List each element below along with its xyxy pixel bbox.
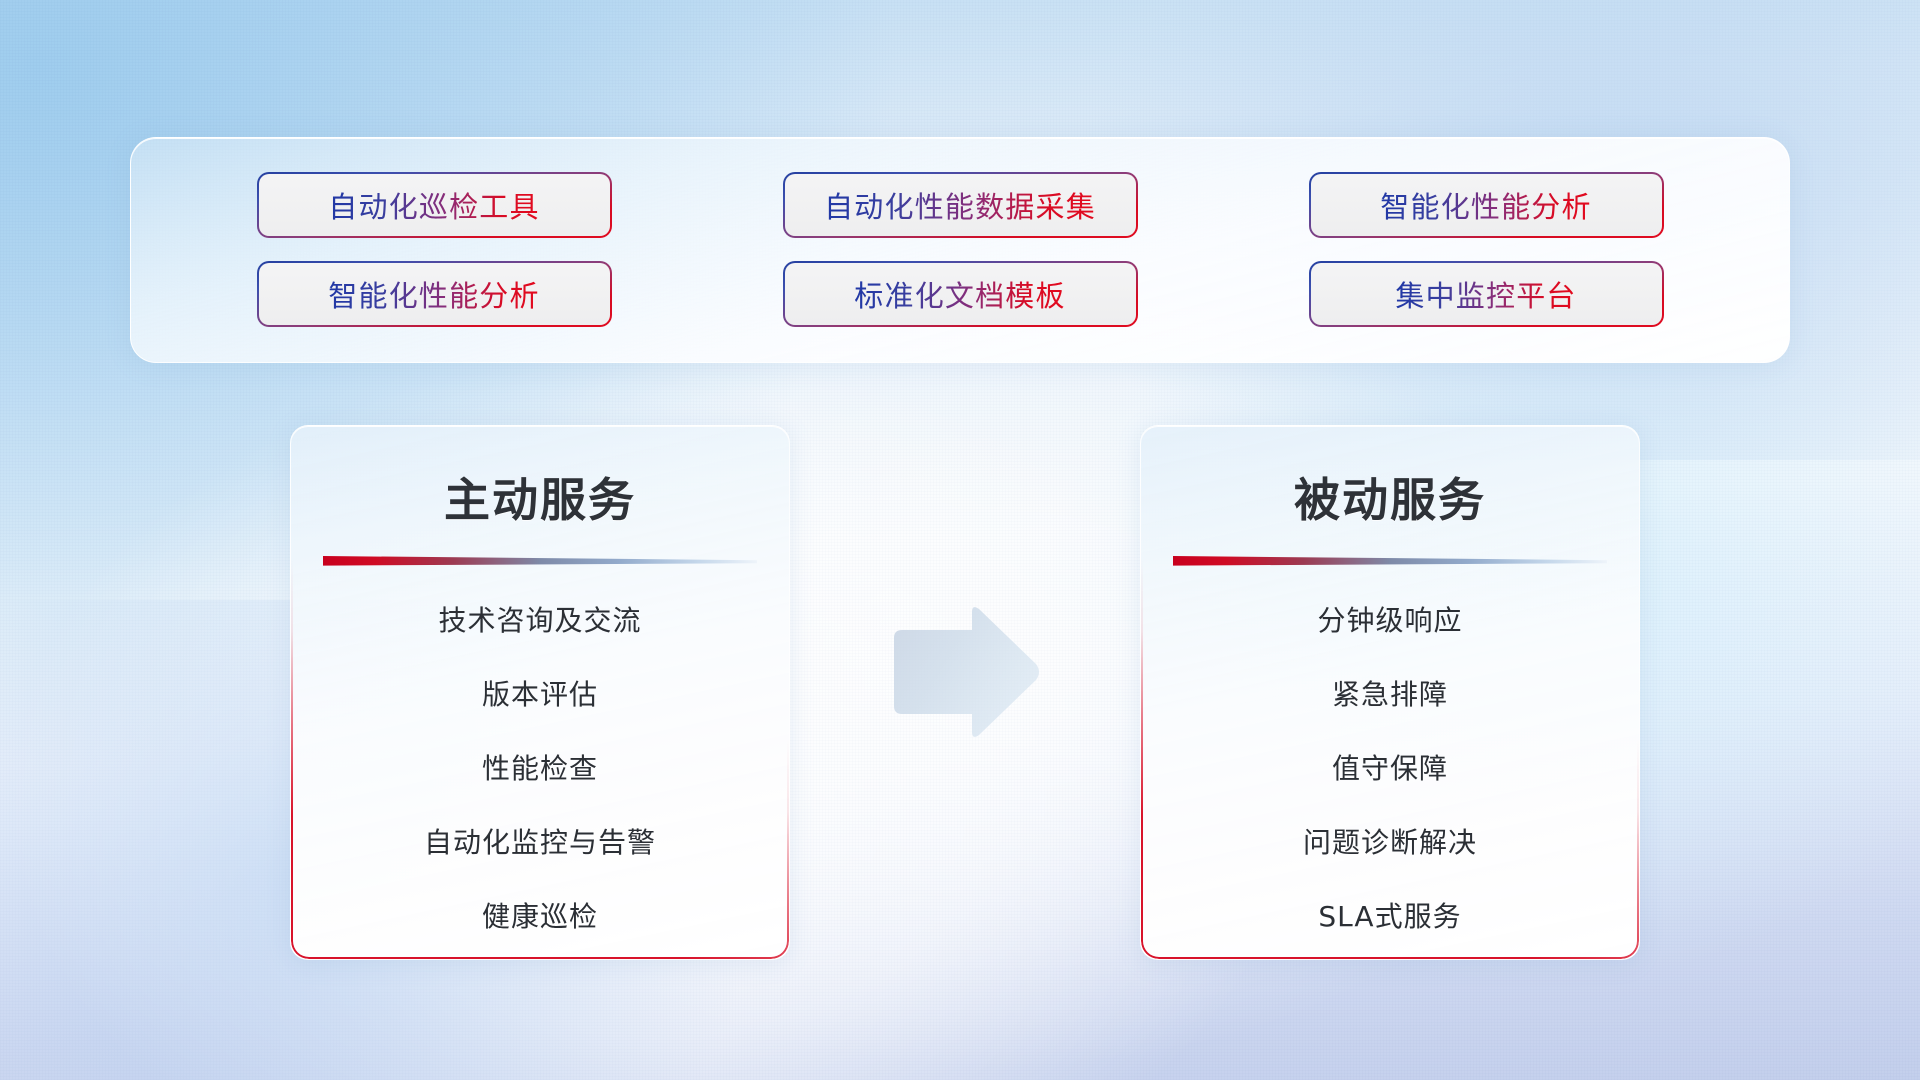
service-card-reactive-list: 分钟级响应 紧急排障 值守保障 问题诊断解决 SLA式服务 (1141, 567, 1639, 945)
capability-tag-3-label: 智能化性能分析 (1380, 184, 1591, 226)
arrow-right-icon (884, 602, 1044, 742)
capability-tag-4[interactable]: 智能化性能分析 (257, 261, 612, 327)
service-card-proactive: 主动服务 技术咨询及交流 版本评估 性能检查 自动化监控与告警 健康巡检 (290, 425, 790, 960)
capability-tag-1-body: 自动化巡检工具 (259, 174, 610, 236)
capability-tag-2-body: 自动化性能数据采集 (785, 174, 1136, 236)
capability-tag-6[interactable]: 集中监控平台 (1309, 261, 1664, 327)
service-card-proactive-list: 技术咨询及交流 版本评估 性能检查 自动化监控与告警 健康巡检 (291, 567, 789, 945)
list-item: 健康巡检 (291, 889, 789, 945)
capability-tag-5-label: 标准化文档模板 (854, 273, 1065, 315)
list-item: 紧急排障 (1141, 667, 1639, 723)
capability-tag-1-label: 自动化巡检工具 (328, 184, 539, 226)
list-item: 分钟级响应 (1141, 593, 1639, 649)
service-card-proactive-title: 主动服务 (291, 426, 789, 530)
title-divider-icon (323, 555, 757, 567)
list-item: 问题诊断解决 (1141, 815, 1639, 871)
capability-tag-5[interactable]: 标准化文档模板 (783, 261, 1138, 327)
capability-tags-panel: 自动化巡检工具 自动化性能数据采集 智能化性能分析 智能化性能分析 标准化文档模… (130, 137, 1790, 363)
service-card-reactive: 被动服务 分钟级响应 紧急排障 值守保障 问题诊断解决 SLA式服务 (1140, 425, 1640, 960)
capability-tag-2-label: 自动化性能数据采集 (824, 184, 1096, 226)
list-item: 版本评估 (291, 667, 789, 723)
list-item: SLA式服务 (1141, 889, 1639, 945)
capability-tag-3-body: 智能化性能分析 (1311, 174, 1662, 236)
capability-tag-3[interactable]: 智能化性能分析 (1309, 172, 1664, 238)
list-item: 自动化监控与告警 (291, 815, 789, 871)
capability-tag-1[interactable]: 自动化巡检工具 (257, 172, 612, 238)
capability-tag-4-body: 智能化性能分析 (259, 263, 610, 325)
service-card-reactive-title: 被动服务 (1141, 426, 1639, 530)
capability-tag-2[interactable]: 自动化性能数据采集 (783, 172, 1138, 238)
title-divider-icon (1173, 555, 1607, 567)
capability-tag-4-label: 智能化性能分析 (328, 273, 539, 315)
list-item: 性能检查 (291, 741, 789, 797)
list-item: 技术咨询及交流 (291, 593, 789, 649)
capability-tag-5-body: 标准化文档模板 (785, 263, 1136, 325)
slide-canvas: 自动化巡检工具 自动化性能数据采集 智能化性能分析 智能化性能分析 标准化文档模… (0, 0, 1920, 1080)
capability-tag-6-body: 集中监控平台 (1311, 263, 1662, 325)
capability-tag-6-label: 集中监控平台 (1395, 273, 1576, 315)
list-item: 值守保障 (1141, 741, 1639, 797)
